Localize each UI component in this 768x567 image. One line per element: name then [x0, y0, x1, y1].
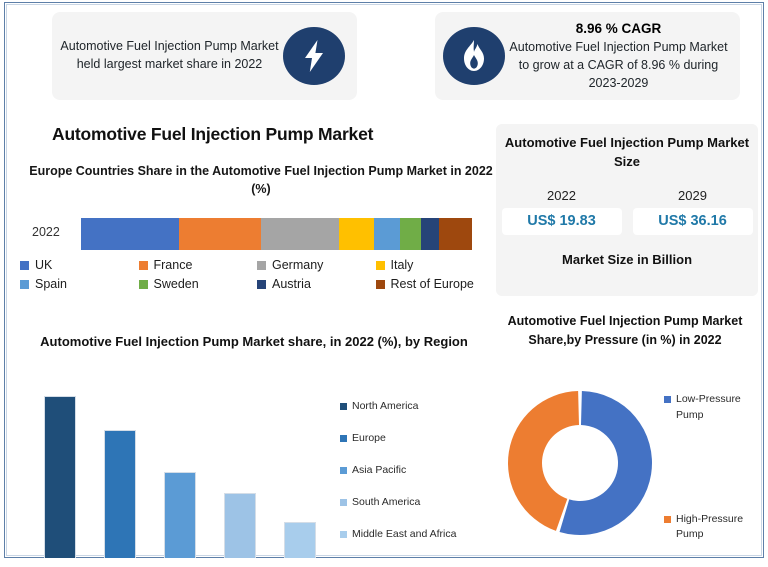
legend-label: Rest of Europe	[391, 277, 474, 291]
stacked-bar-segment-spain	[374, 218, 399, 250]
highlight-card-left-text: Automotive Fuel Injection Pump Market he…	[56, 38, 283, 74]
legend-swatch	[340, 435, 347, 442]
legend-swatch	[257, 261, 266, 270]
region-bar-slot	[150, 396, 210, 558]
legend-label: Europe	[352, 432, 386, 444]
highlight-card-market-share: Automotive Fuel Injection Pump Market he…	[52, 12, 357, 100]
legend-item-uk: UK	[20, 258, 139, 272]
market-size-2022: 2022 US$ 19.83	[502, 188, 622, 235]
highlight-card-right-text: 8.96 % CAGR Automotive Fuel Injection Pu…	[505, 19, 732, 92]
legend-label: Middle East and Africa	[352, 528, 456, 540]
europe-chart-legend: UKFranceGermanyItalySpainSwedenAustriaRe…	[20, 258, 494, 296]
legend-item-france: France	[139, 258, 258, 272]
stacked-bar-segment-germany	[261, 218, 339, 250]
legend-label: Low-Pressure Pump	[676, 392, 764, 424]
europe-axis-label: 2022	[32, 225, 60, 239]
stacked-bar-segment-rest-of-europe	[439, 218, 472, 250]
stacked-bar-segment-uk	[81, 218, 179, 250]
flame-icon	[443, 27, 505, 85]
stacked-bar	[81, 218, 472, 250]
region-bar-slot	[30, 396, 90, 558]
legend-swatch	[340, 403, 347, 410]
market-size-panel: Automotive Fuel Injection Pump Market Si…	[496, 124, 758, 296]
cagr-description: Automotive Fuel Injection Pump Market to…	[509, 40, 727, 90]
legend-label: Italy	[391, 258, 414, 272]
page-title: Automotive Fuel Injection Pump Market	[52, 124, 472, 145]
legend-label: Germany	[272, 258, 323, 272]
legend-item-sweden: Sweden	[139, 277, 258, 291]
legend-item-austria: Austria	[257, 277, 376, 291]
legend-item-spain: Spain	[20, 277, 139, 291]
highlight-card-cagr: 8.96 % CAGR Automotive Fuel Injection Pu…	[435, 12, 740, 100]
legend-swatch	[20, 280, 29, 289]
stacked-bar-segment-france	[179, 218, 261, 250]
bolt-icon	[283, 27, 345, 85]
legend-swatch	[664, 516, 671, 523]
region-bar-slot	[270, 396, 330, 558]
stacked-bar-segment-italy	[339, 218, 374, 250]
legend-item-south-america: South America	[340, 486, 500, 518]
donut-svg	[505, 388, 655, 538]
market-size-title: Automotive Fuel Injection Pump Market Si…	[496, 134, 758, 172]
legend-swatch	[139, 261, 148, 270]
legend-item-north-america: North America	[340, 390, 500, 422]
region-chart-title: Automotive Fuel Injection Pump Market sh…	[24, 332, 484, 352]
market-size-value-b: US$ 36.16	[633, 208, 753, 235]
legend-item-high-pressure-pump: High-Pressure Pump	[664, 512, 764, 544]
europe-stacked-bar-chart: 2022	[22, 218, 494, 252]
region-bar-south-america	[224, 493, 256, 558]
infographic-page: Automotive Fuel Injection Pump Market he…	[0, 0, 768, 567]
legend-item-asia-pacific: Asia Pacific	[340, 454, 500, 486]
legend-swatch	[340, 531, 347, 538]
legend-label: France	[154, 258, 193, 272]
legend-item-rest-of-europe: Rest of Europe	[376, 277, 495, 291]
legend-swatch	[376, 280, 385, 289]
legend-swatch	[340, 467, 347, 474]
market-size-2029: 2029 US$ 36.16	[633, 188, 753, 235]
cagr-headline: 8.96 % CAGR	[505, 19, 732, 38]
pressure-chart-legend: Low-Pressure PumpHigh-Pressure Pump	[664, 392, 764, 543]
legend-label: North America	[352, 400, 419, 412]
region-bars	[30, 396, 330, 558]
market-size-year-b: 2029	[633, 188, 753, 203]
region-bar-slot	[210, 396, 270, 558]
market-size-value-a: US$ 19.83	[502, 208, 622, 235]
region-bar-north-america	[44, 396, 76, 558]
region-bar-europe	[104, 430, 136, 558]
legend-swatch	[20, 261, 29, 270]
legend-label: South America	[352, 496, 420, 508]
legend-label: Sweden	[154, 277, 199, 291]
legend-swatch	[257, 280, 266, 289]
legend-item-italy: Italy	[376, 258, 495, 272]
region-bar-asia-pacific	[164, 472, 196, 558]
legend-swatch	[139, 280, 148, 289]
legend-label: UK	[35, 258, 52, 272]
legend-swatch	[664, 396, 671, 403]
legend-label: Austria	[272, 277, 311, 291]
region-bar-slot	[90, 396, 150, 558]
pressure-chart-title: Automotive Fuel Injection Pump Market Sh…	[496, 312, 754, 350]
stacked-bar-segment-austria	[421, 218, 439, 250]
europe-chart-title: Europe Countries Share in the Automotive…	[28, 162, 494, 198]
region-chart-legend: North AmericaEuropeAsia PacificSouth Ame…	[340, 390, 500, 550]
market-size-years: 2022 US$ 19.83 2029 US$ 36.16	[496, 188, 758, 235]
stacked-bar-segment-sweden	[400, 218, 422, 250]
legend-label: Asia Pacific	[352, 464, 406, 476]
region-bar-chart	[30, 396, 330, 558]
pressure-donut-chart	[505, 388, 655, 538]
legend-label: High-Pressure Pump	[676, 512, 764, 544]
legend-item-europe: Europe	[340, 422, 500, 454]
region-bar-middle-east-and-africa	[284, 522, 316, 558]
legend-item-middle-east-and-africa: Middle East and Africa	[340, 518, 500, 550]
market-size-footer: Market Size in Billion	[496, 252, 758, 267]
legend-label: Spain	[35, 277, 67, 291]
legend-swatch	[340, 499, 347, 506]
legend-item-germany: Germany	[257, 258, 376, 272]
market-size-year-a: 2022	[502, 188, 622, 203]
legend-swatch	[376, 261, 385, 270]
legend-item-low-pressure-pump: Low-Pressure Pump	[664, 392, 764, 424]
